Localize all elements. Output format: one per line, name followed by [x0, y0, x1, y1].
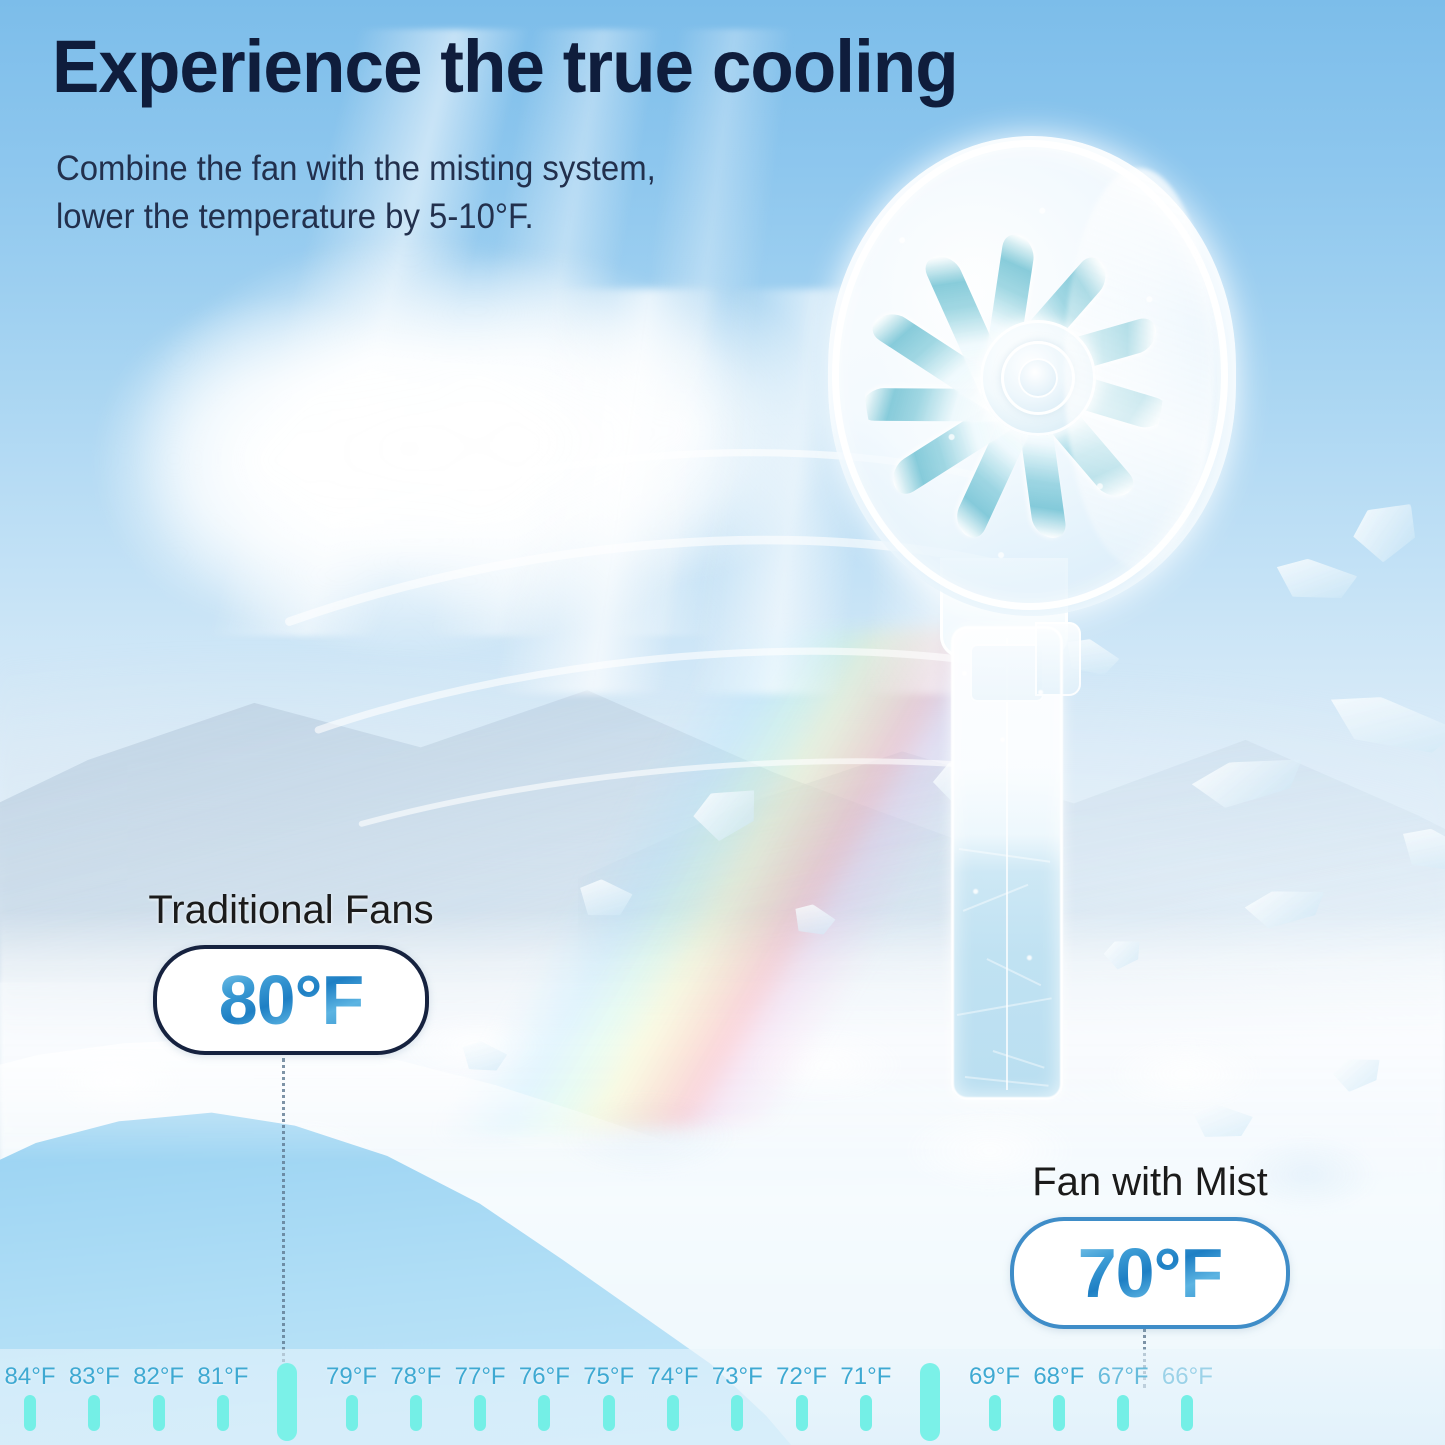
scale-tick-bar — [731, 1395, 743, 1431]
scale-tick-bar — [88, 1395, 100, 1431]
scale-tick-label: 83°F — [69, 1363, 120, 1391]
scale-tick-label: 73°F — [712, 1363, 763, 1391]
temperature-value-traditional: 80°F — [219, 960, 364, 1040]
scale-tick-bar — [24, 1395, 36, 1431]
callout-fan-with-mist: Fan with Mist 70°F — [960, 1160, 1340, 1329]
product-image-handheld-misting-fan — [820, 128, 1270, 1128]
scale-tick-label: 69°F — [969, 1363, 1020, 1391]
callout-label-mist: Fan with Mist — [960, 1160, 1340, 1205]
scale-tick-bar — [989, 1395, 1001, 1431]
scale-tick-bar — [153, 1395, 165, 1431]
scale-tick-label: 79°F — [326, 1363, 377, 1391]
scale-tick-bar — [538, 1395, 550, 1431]
temperature-badge-traditional: 80°F — [153, 945, 429, 1055]
temperature-scale: 84°F83°F82°F81°F79°F78°F77°F76°F75°F74°F… — [0, 1349, 1445, 1445]
scale-tick-bar — [603, 1395, 615, 1431]
callout-traditional-fans: Traditional Fans 80°F — [96, 888, 486, 1055]
temperature-badge-mist: 70°F — [1010, 1217, 1290, 1329]
scale-tick-label: 74°F — [648, 1363, 699, 1391]
scale-tick-bar — [667, 1395, 679, 1431]
scale-tick-label: 81°F — [197, 1363, 248, 1391]
leader-line-traditional — [282, 1058, 285, 1388]
scale-tick-label: 78°F — [390, 1363, 441, 1391]
page-subtitle: Combine the fan with the misting system,… — [56, 145, 656, 242]
scale-tick-bar — [1117, 1395, 1129, 1431]
scale-tick-bar — [1181, 1395, 1193, 1431]
scale-tick-bar — [277, 1363, 297, 1441]
scale-tick-bar — [1053, 1395, 1065, 1431]
scale-tick-label: 76°F — [519, 1363, 570, 1391]
scale-tick-label: 82°F — [133, 1363, 184, 1391]
subtitle-line-1: Combine the fan with the misting system, — [56, 145, 656, 193]
callout-label-traditional: Traditional Fans — [96, 888, 486, 933]
scale-tick-bar — [860, 1395, 872, 1431]
scale-tick-label: 67°F — [1098, 1363, 1149, 1391]
scale-tick-bar — [410, 1395, 422, 1431]
scale-tick-bar — [217, 1395, 229, 1431]
fan-head — [828, 128, 1248, 628]
scale-tick-bar — [474, 1395, 486, 1431]
scale-tick-label: 84°F — [5, 1363, 56, 1391]
scale-tick-label: 77°F — [455, 1363, 506, 1391]
scale-tick-bar — [920, 1363, 940, 1441]
fan-head-gloss — [1064, 168, 1214, 568]
scale-tick-label: 66°F — [1162, 1363, 1213, 1391]
page-title: Experience the true cooling — [52, 30, 958, 104]
temperature-value-mist: 70°F — [1078, 1233, 1223, 1313]
subtitle-line-2: lower the temperature by 5-10°F. — [56, 193, 656, 241]
scale-tick-label: 75°F — [583, 1363, 634, 1391]
handle-frost-overlay — [951, 626, 1063, 1100]
product-marketing-banner: Experience the true cooling Combine the … — [0, 0, 1445, 1445]
scale-tick-label: 71°F — [840, 1363, 891, 1391]
scale-tick-label: 72°F — [776, 1363, 827, 1391]
scale-tick-bar — [346, 1395, 358, 1431]
scale-tick-bar — [796, 1395, 808, 1431]
scale-tick-label: 68°F — [1033, 1363, 1084, 1391]
